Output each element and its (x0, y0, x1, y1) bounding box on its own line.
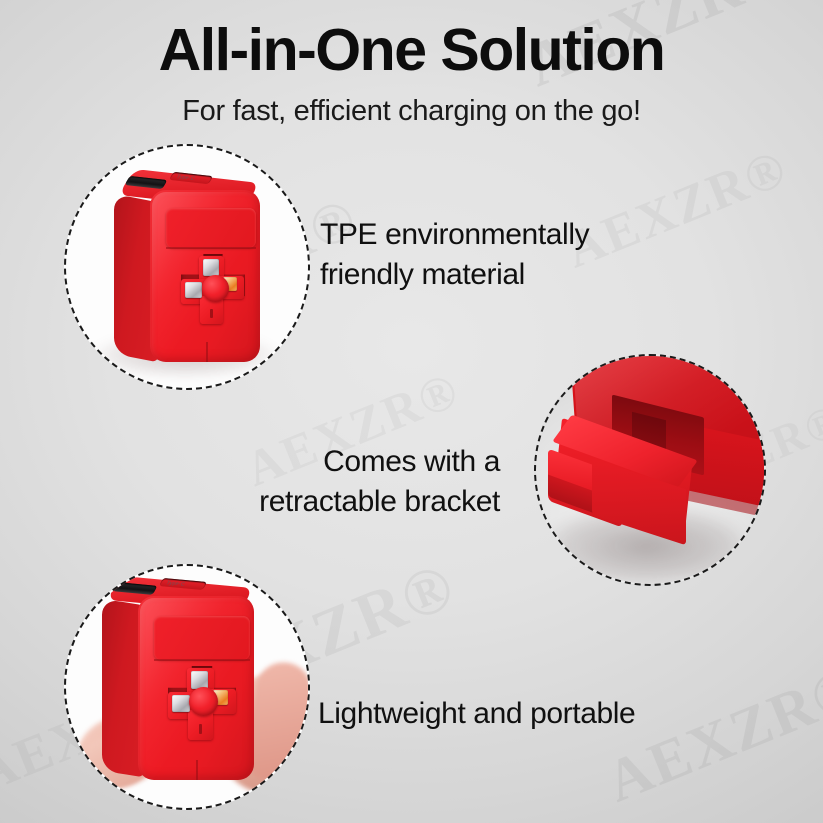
feature-image-circle-lightweight-portable: Type-C (64, 564, 310, 810)
page-subtitle: For fast, efficient charging on the go! (0, 95, 823, 128)
adapter-seam-line (154, 659, 250, 661)
feature-image-circle-tpe-material: Type-C (64, 144, 310, 390)
feature-caption-retractable-bracket: Comes with a retractable bracket (170, 442, 500, 522)
micro-usb-connector-tip-icon (172, 695, 190, 712)
adapter-seam-line (166, 247, 256, 249)
usb-c-connector-tip-icon (203, 259, 219, 276)
connector-notch (199, 724, 202, 734)
adapter-fold-panel (166, 208, 256, 248)
feature-image-clip: Type-C (66, 146, 308, 388)
watermark-text: AEXZR® (597, 653, 823, 817)
feature-caption-lightweight-portable: Lightweight and portable (318, 694, 758, 734)
connector-hub-center (189, 687, 218, 716)
feature-image-circle-retractable-bracket (534, 354, 766, 586)
page-title: All-in-One Solution (0, 20, 823, 82)
product-feature-poster: AEXZR® AEXZR® AEXZR® AEXZR® AEXZR® AEXZR… (0, 0, 823, 823)
adapter-fold-panel (154, 616, 250, 660)
adapter-seam-line (206, 342, 208, 362)
micro-usb-connector-tip-icon (185, 282, 202, 298)
adapter-seam-line (196, 760, 198, 780)
connector-hub-center (202, 275, 229, 302)
connector-notch (210, 309, 213, 318)
feature-image-clip: Type-C (66, 566, 308, 808)
feature-image-clip (536, 356, 764, 584)
feature-caption-tpe-material: TPE environmentally friendly material (320, 215, 680, 295)
